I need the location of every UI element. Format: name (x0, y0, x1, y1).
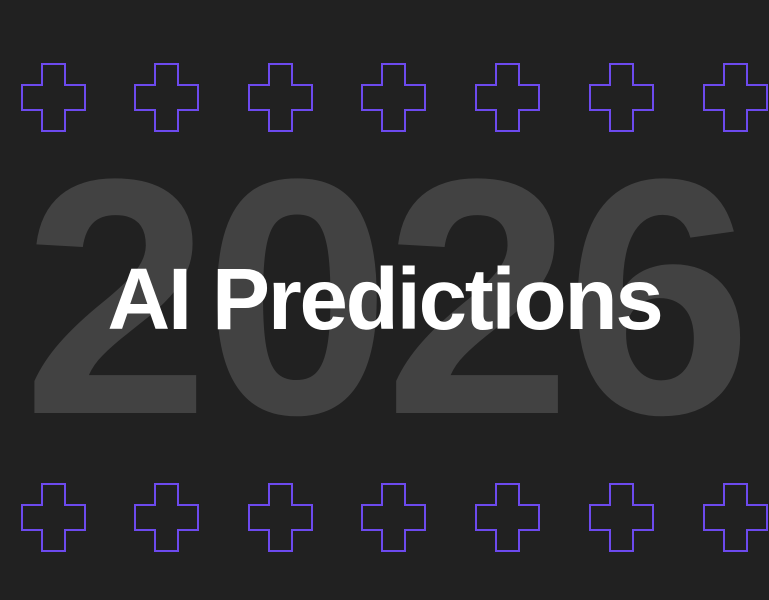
headline-layer: AI Predictions (0, 0, 769, 600)
hero-banner: 2026 AI Predictions (0, 0, 769, 600)
page-title: AI Predictions (107, 256, 661, 343)
